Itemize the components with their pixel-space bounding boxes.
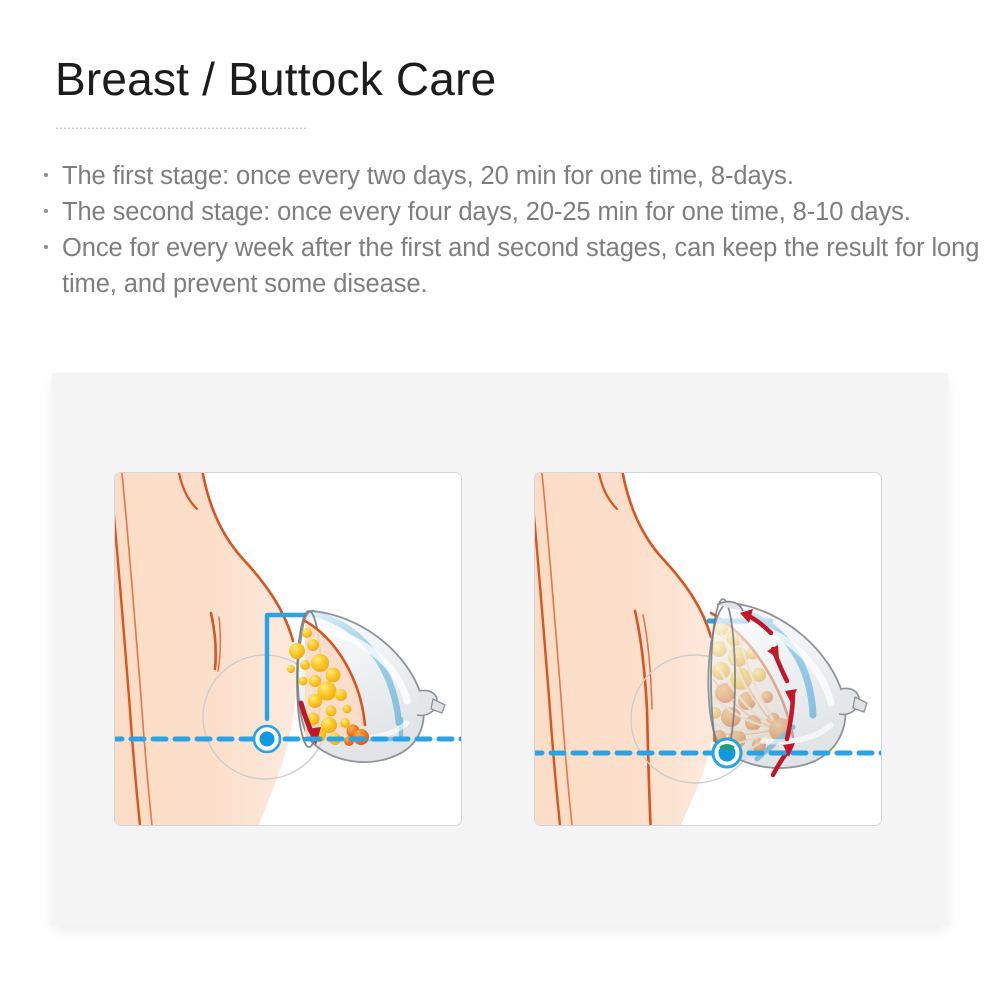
bullet-dot-icon — [44, 173, 48, 177]
product-detail-page: Breast / Buttock Care The first stage: o… — [0, 0, 1000, 1000]
before-illustration — [115, 473, 461, 825]
nipple-marker — [254, 726, 280, 752]
title-divider — [55, 126, 307, 129]
bullet-dot-icon — [44, 209, 48, 213]
list-item-text: The second stage: once every four days, … — [62, 194, 980, 230]
illustration-showcase — [52, 373, 948, 925]
illustration-panels — [52, 373, 948, 925]
panel-after — [534, 472, 882, 826]
instruction-list: The first stage: once every two days, 20… — [40, 158, 980, 302]
list-item-text: The first stage: once every two days, 20… — [62, 158, 980, 194]
after-illustration — [535, 473, 881, 825]
list-item: The second stage: once every four days, … — [40, 194, 980, 230]
list-item: The first stage: once every two days, 20… — [40, 158, 980, 194]
bullet-dot-icon — [44, 245, 48, 249]
panel-before — [114, 472, 462, 826]
nipple-marker — [713, 739, 741, 767]
list-item: Once for every week after the first and … — [40, 230, 980, 302]
list-item-text: Once for every week after the first and … — [62, 230, 980, 302]
page-title: Breast / Buttock Care — [55, 54, 496, 105]
